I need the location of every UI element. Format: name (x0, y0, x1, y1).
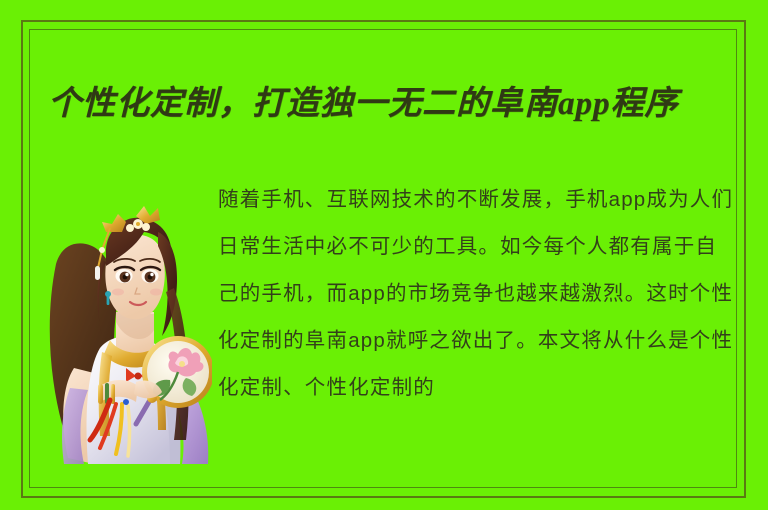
content-row: 随着手机、互联网技术的不断发展，手机app成为人们日常生活中必不可少的工具。如今… (40, 172, 740, 472)
character-illustration-svg (40, 172, 212, 464)
page-title: 个性化定制，打造独一无二的阜南app程序 (48, 78, 740, 130)
character-illustration (40, 172, 212, 464)
body-paragraph: 随着手机、互联网技术的不断发展，手机app成为人们日常生活中必不可少的工具。如今… (218, 176, 738, 411)
poster-canvas: 个性化定制，打造独一无二的阜南app程序 (0, 0, 768, 510)
